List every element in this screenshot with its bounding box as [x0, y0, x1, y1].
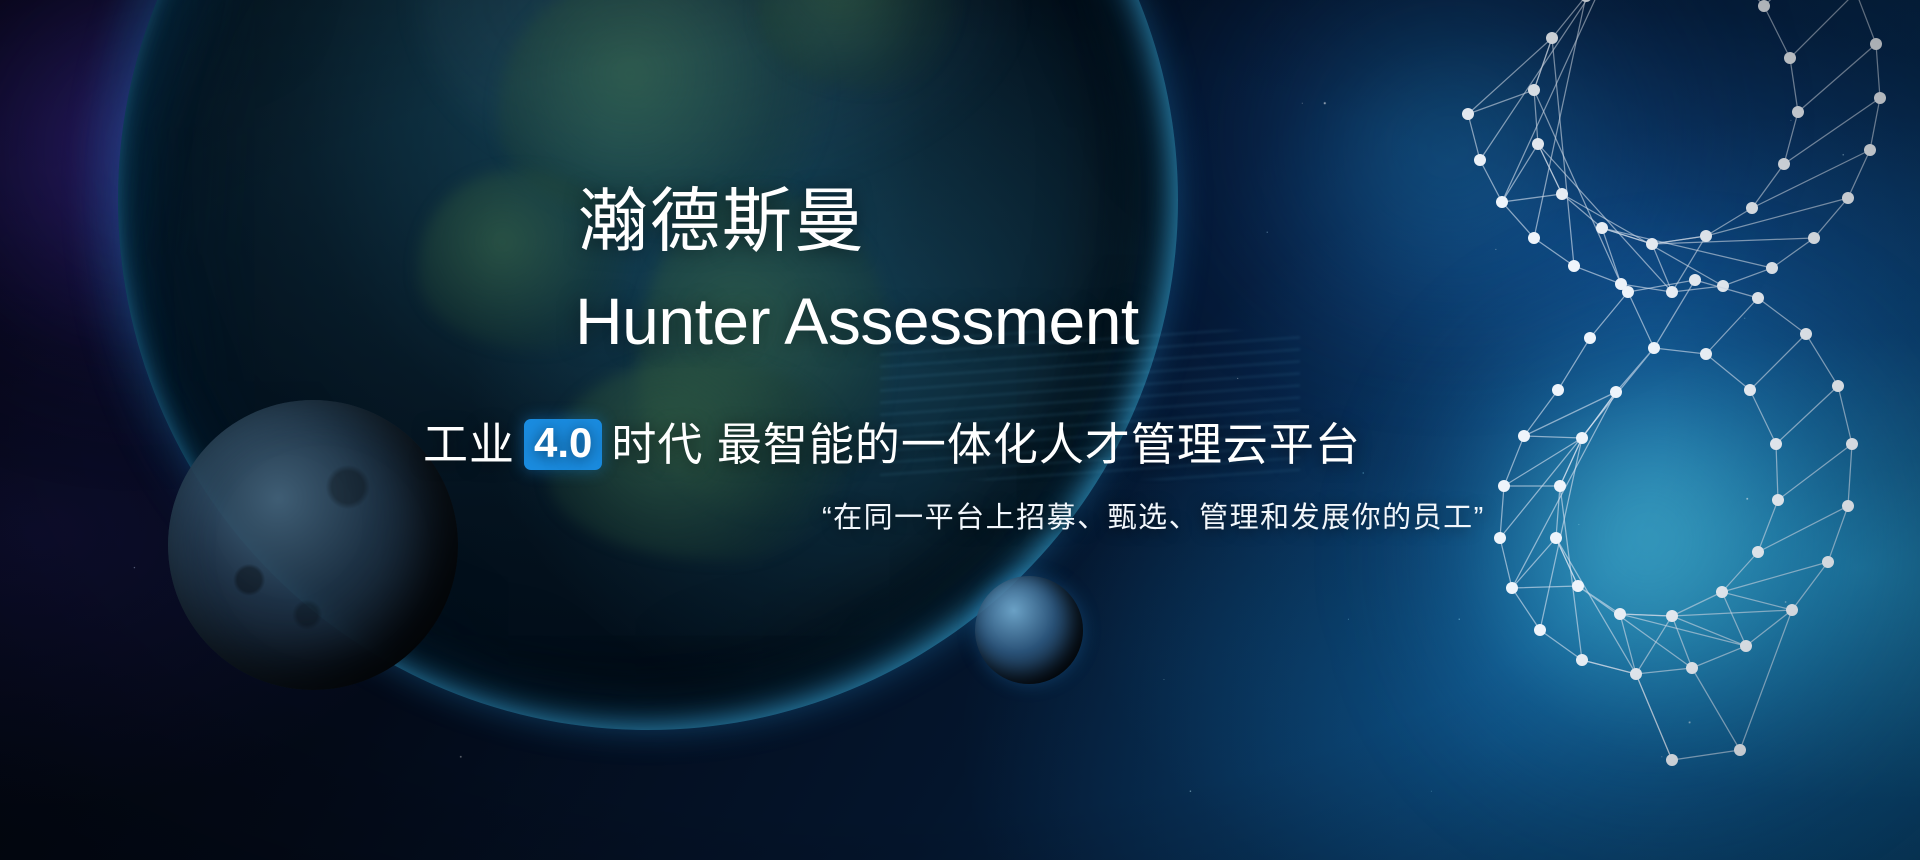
hero-copy: 瀚德斯曼 Hunter Assessment 工业 4.0 时代 最智能的一体化…: [0, 0, 1920, 860]
subtitle-suffix: 时代 最智能的一体化人才管理云平台: [611, 422, 1361, 467]
subtitle-prefix: 工业: [423, 422, 515, 467]
hero-banner: 瀚德斯曼 Hunter Assessment 工业 4.0 时代 最智能的一体化…: [0, 0, 1920, 860]
brand-title-english: Hunter Assessment: [575, 288, 1139, 354]
hero-tagline: “在同一平台上招募、甄选、管理和发展你的员工”: [822, 504, 1485, 533]
hero-subtitle: 工业 4.0 时代 最智能的一体化人才管理云平台: [423, 419, 1361, 470]
brand-title-chinese: 瀚德斯曼: [578, 186, 866, 256]
industry-version-badge: 4.0: [524, 419, 602, 470]
